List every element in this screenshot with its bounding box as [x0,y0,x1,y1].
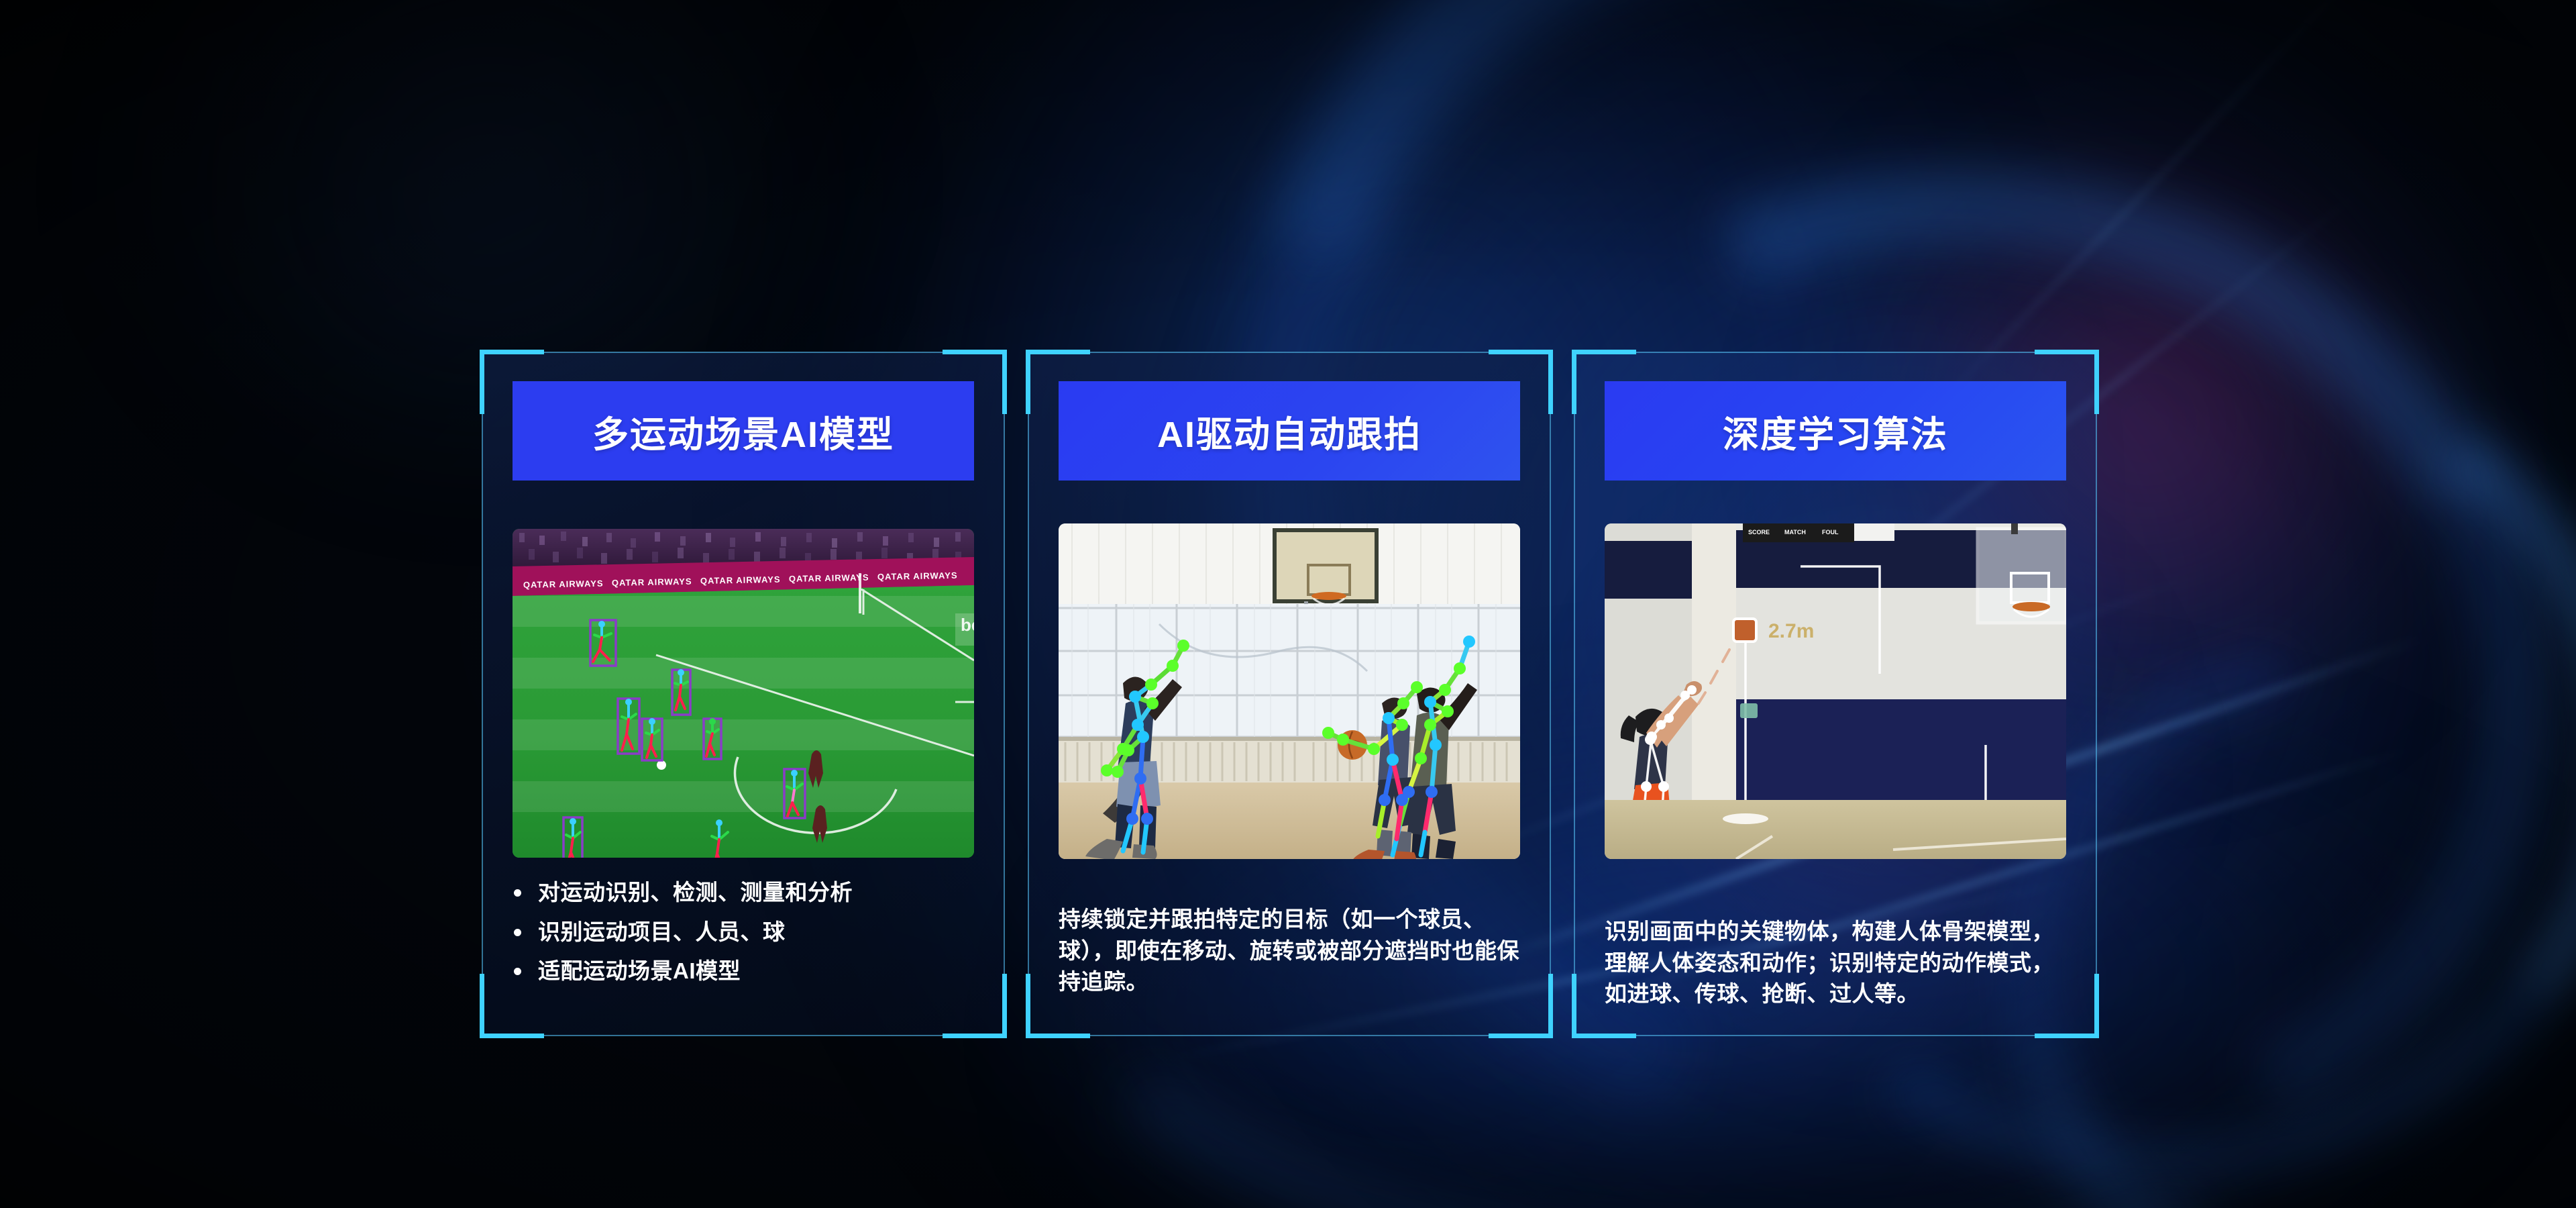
feature-card-multi-sport-ai-model[interactable]: 多运动场景AI模型 [482,352,1005,1036]
card-title-banner: 多运动场景AI模型 [513,381,974,481]
svg-text:FOUL: FOUL [1822,529,1839,536]
list-item: 适配运动场景AI模型 [504,956,985,987]
svg-text:SCORE: SCORE [1748,529,1770,536]
feature-card-ai-auto-tracking[interactable]: AI驱动自动跟拍 [1028,352,1551,1036]
card-title-banner: AI驱动自动跟拍 [1059,381,1520,481]
gym-basketball-pose-thumbnail [1059,523,1520,859]
feature-description: 持续锁定并跟拍特定的目标（如一个球员、球），即使在移动、旋转或被部分遮挡时也能保… [1059,904,1528,997]
svg-text:QATAR AIRWAYS: QATAR AIRWAYS [612,576,692,588]
shot-measurement-illustration: SCOREMATCHFOUL 2.7m [1605,523,2066,859]
card-title: 深度学习算法 [1723,405,1948,458]
feature-bullet-list: 对运动识别、检测、测量和分析 识别运动项目、人员、球 适配运动场景AI模型 [504,877,985,987]
svg-text:QATAR AIRWAYS: QATAR AIRWAYS [523,578,604,590]
svg-text:QATAR AIRWAYS: QATAR AIRWAYS [789,572,869,584]
feature-card-deck: 多运动场景AI模型 [482,352,2098,1036]
feature-card-deep-learning-algorithm[interactable]: 深度学习算法 [1574,352,2097,1036]
soccer-pitch-detection-thumbnail: QATAR AIRWAYS QATAR AIRWAYS QATAR AIRWAY… [513,529,974,858]
svg-text:QATAR AIRWAYS: QATAR AIRWAYS [877,570,958,582]
card-title: 多运动场景AI模型 [592,405,894,458]
soccer-scene-illustration: QATAR AIRWAYS QATAR AIRWAYS QATAR AIRWAY… [513,529,974,858]
card-title: AI驱动自动跟拍 [1157,405,1421,458]
measurement-label: 2.7m [1768,620,1814,642]
gym-pose-illustration [1059,523,1520,859]
list-item: 对运动识别、检测、测量和分析 [504,877,985,908]
svg-text:MATCH: MATCH [1784,529,1806,536]
card-body: 持续锁定并跟拍特定的目标（如一个球员、球），即使在移动、旋转或被部分遮挡时也能保… [1059,904,1528,997]
list-item: 识别运动项目、人员、球 [504,917,985,948]
svg-text:QATAR AIRWAYS: QATAR AIRWAYS [700,574,781,586]
card-title-banner: 深度学习算法 [1605,381,2066,481]
card-body: 对运动识别、检测、测量和分析 识别运动项目、人员、球 适配运动场景AI模型 [504,877,985,995]
svg-text:be: be [961,615,974,635]
basketball-shot-measurement-thumbnail: SCOREMATCHFOUL 2.7m [1605,523,2066,859]
feature-description: 识别画面中的关键物体，构建人体骨架模型，理解人体姿态和动作；识别特定的动作模式，… [1605,916,2074,1009]
card-body: 识别画面中的关键物体，构建人体骨架模型，理解人体姿态和动作；识别特定的动作模式，… [1605,916,2074,1009]
